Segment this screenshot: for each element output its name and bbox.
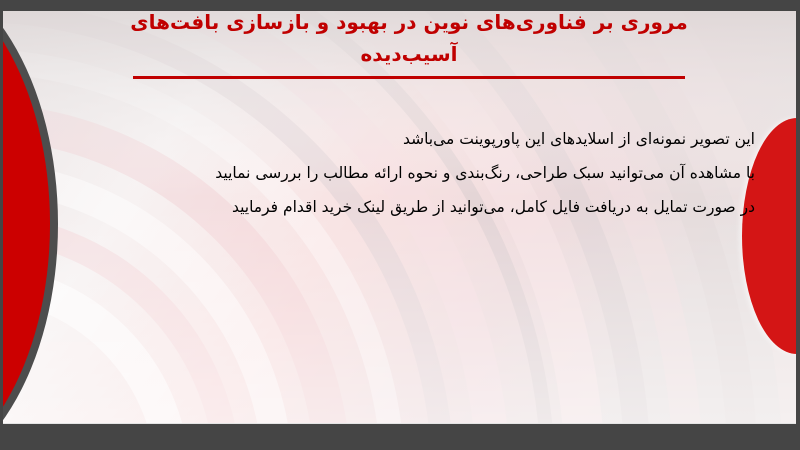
body-line-2: با مشاهده آن می‌توانید سبک طراحی، رنگ‌بن…: [115, 156, 755, 190]
frame-left-edge: [0, 0, 3, 450]
frame-top-band: [0, 0, 800, 11]
presentation-slide: مروری بر فناوری‌های نوین در بهبود و بازس…: [0, 0, 800, 450]
title-underline-rule: [133, 76, 685, 79]
body-line-1: این تصویر نمونه‌ای از اسلایدهای این پاور…: [115, 122, 755, 156]
slide-title: مروری بر فناوری‌های نوین در بهبود و بازس…: [120, 6, 698, 70]
slide-title-text: مروری بر فناوری‌های نوین در بهبود و بازس…: [120, 6, 698, 70]
frame-right-edge: [796, 0, 800, 450]
slide-body: این تصویر نمونه‌ای از اسلایدهای این پاور…: [115, 122, 755, 224]
body-line-3: در صورت تمایل به دریافت فایل کامل، می‌تو…: [115, 190, 755, 224]
frame-bottom-band: [0, 424, 800, 450]
